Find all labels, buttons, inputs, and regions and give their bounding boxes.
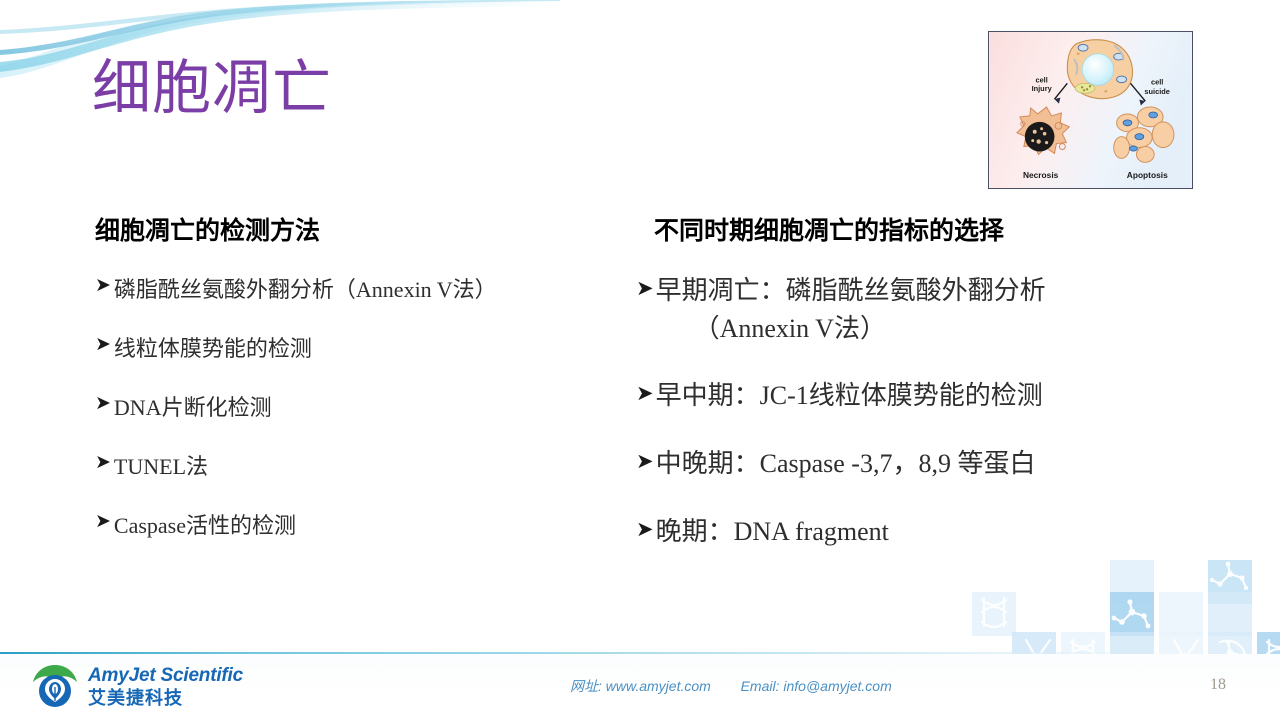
list-item-text: 中晚期：Caspase -3,7，8,9 等蛋白 [656,445,1206,483]
company-logo: AmyJet Scientific 艾美捷科技 [30,664,243,708]
label-apoptosis: Apoptosis [1127,170,1168,180]
slide-canvas: 细胞凋亡 [0,0,1280,720]
footer-contact: 网址: www.amyjet.com Email: info@amyjet.co… [570,676,892,696]
apoptosis-necrosis-figure: cell Injury cell suicide Necrosis [988,31,1193,189]
list-item: ➤ DNA片断化检测 [95,390,615,422]
dna-helix-icon [982,598,1006,627]
list-item-text: 早中期：JC-1线粒体膜势能的检测 [656,377,1206,415]
website-link[interactable]: 网址: www.amyjet.com [570,678,711,694]
list-item-text: 早期凋亡：磷脂酰丝氨酸外翻分析 （Annexin V法） [656,272,1206,347]
bullet-arrow-icon: ➤ [636,272,654,299]
list-item-text: 晚期：DNA fragment [656,513,1206,551]
list-item: ➤ 早中期：JC-1线粒体膜势能的检测 [636,377,1206,415]
list-item: ➤ 晚期：DNA fragment [636,513,1206,551]
bullet-arrow-icon: ➤ [95,449,111,472]
amyjet-logo-icon [30,664,80,708]
label-cell-injury-line1: cell [1035,75,1047,84]
page-title: 细胞凋亡 [92,58,332,118]
list-item-line2: （Annexin V法） [656,310,1206,348]
list-item: ➤ TUNEL法 [95,449,615,481]
molecule-icon [1210,562,1248,591]
bullet-arrow-icon: ➤ [95,331,111,354]
page-number: 18 [1210,676,1226,694]
bullet-arrow-icon: ➤ [95,508,111,531]
label-cell-suicide-line2: suicide [1144,87,1169,96]
left-content-column: 细胞凋亡的检测方法 ➤ 磷脂酰丝氨酸外翻分析（Annexin V法） ➤ 线粒体… [95,216,615,567]
bullet-arrow-icon: ➤ [636,513,654,540]
molecule-icon [1112,599,1151,628]
label-cell-suicide-line1: cell [1151,77,1163,86]
label-cell-injury-line2: Injury [1032,84,1053,93]
list-item-text: TUNEL法 [114,449,615,481]
list-item: ➤ 磷脂酰丝氨酸外翻分析（Annexin V法） [95,272,615,304]
logo-chinese-text: 艾美捷科技 [88,689,243,707]
bullet-arrow-icon: ➤ [636,445,654,472]
right-content-column: 不同时期细胞凋亡的指标的选择 ➤ 早期凋亡：磷脂酰丝氨酸外翻分析 （Annexi… [636,216,1206,580]
bullet-arrow-icon: ➤ [636,377,654,404]
list-item-text: 磷脂酰丝氨酸外翻分析（Annexin V法） [114,272,615,304]
right-bullet-list: ➤ 早期凋亡：磷脂酰丝氨酸外翻分析 （Annexin V法） ➤ 早中期：JC-… [636,272,1206,550]
bullet-arrow-icon: ➤ [95,390,111,413]
footer-divider [0,652,1280,654]
list-item-line1: 早期凋亡：磷脂酰丝氨酸外翻分析 [656,276,1046,305]
right-column-heading: 不同时期细胞凋亡的指标的选择 [654,216,1206,246]
email-link[interactable]: Email: info@amyjet.com [741,678,892,694]
logo-english-text: AmyJet Scientific [88,666,243,685]
left-bullet-list: ➤ 磷脂酰丝氨酸外翻分析（Annexin V法） ➤ 线粒体膜势能的检测 ➤ D… [95,272,615,540]
list-item-text: Caspase活性的检测 [114,508,615,540]
left-column-heading: 细胞凋亡的检测方法 [95,216,615,246]
list-item: ➤ 线粒体膜势能的检测 [95,331,615,363]
label-necrosis: Necrosis [1023,170,1059,180]
list-item: ➤ 早期凋亡：磷脂酰丝氨酸外翻分析 （Annexin V法） [636,272,1206,347]
list-item: ➤ 中晚期：Caspase -3,7，8,9 等蛋白 [636,445,1206,483]
list-item-text: DNA片断化检测 [114,390,615,422]
bullet-arrow-icon: ➤ [95,272,111,295]
list-item: ➤ Caspase活性的检测 [95,508,615,540]
list-item-text: 线粒体膜势能的检测 [114,331,615,363]
